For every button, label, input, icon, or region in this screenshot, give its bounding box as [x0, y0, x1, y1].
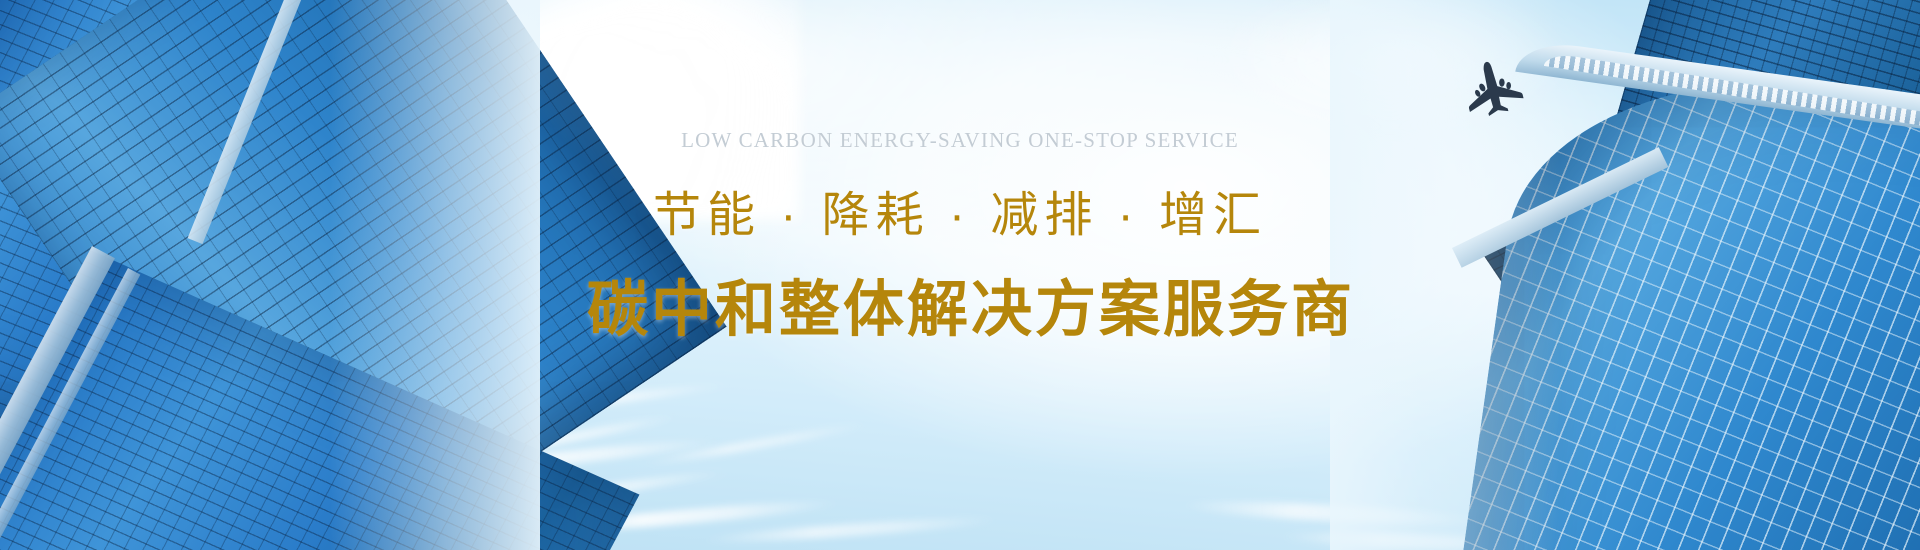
- hero-banner: LOW CARBON ENERGY-SAVING ONE-STOP SERVIC…: [0, 0, 1920, 550]
